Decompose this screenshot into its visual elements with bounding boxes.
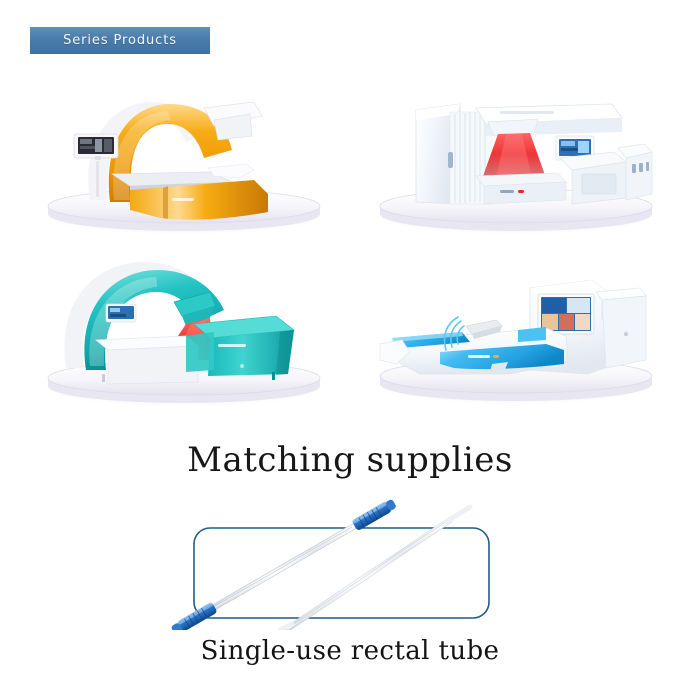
leg-left	[102, 374, 105, 382]
base-seam	[163, 186, 168, 219]
tube-1-connector-top	[352, 498, 398, 531]
product-image-white-gantry	[350, 78, 682, 248]
control-monitor[interactable]	[74, 134, 118, 158]
series-products-banner: Series Products	[30, 27, 210, 54]
monitor-mount	[95, 156, 101, 160]
rectal-tube-caption: Single-use rectal tube	[0, 636, 700, 666]
rectal-tube-svg	[150, 490, 550, 630]
brand-mark	[218, 344, 246, 347]
product-image-gold-c-arm	[18, 78, 350, 248]
banner-label: Series Products	[63, 33, 177, 48]
product-gallery	[18, 78, 682, 418]
screen-widget-b	[110, 314, 126, 317]
leg-right	[272, 372, 275, 380]
tube-2-lumen-line	[292, 523, 444, 626]
brand-mark	[172, 198, 194, 201]
operator-screen-widget-a	[561, 141, 575, 146]
display-thumb-d	[559, 314, 574, 330]
product-image-teal-c-arm	[18, 248, 350, 418]
rectal-tube-illustration	[150, 490, 550, 630]
brand-mark	[468, 355, 490, 358]
matching-supplies-heading: Matching supplies	[0, 440, 700, 480]
power-indicator	[624, 332, 628, 336]
tower-indicator	[448, 152, 453, 168]
console-blue-accent	[518, 327, 546, 342]
beam-emitter-head	[488, 119, 538, 136]
screen-widget-c	[95, 139, 102, 152]
product-image-blue-bed	[350, 248, 682, 418]
table-label	[500, 190, 514, 193]
screen-widget-d	[104, 139, 112, 152]
display-thumb-a	[542, 298, 566, 313]
cabinet-partition	[186, 332, 214, 372]
screen-widget-a	[80, 139, 92, 144]
front-table-body	[108, 346, 198, 384]
tube-2-tip	[446, 507, 470, 522]
product-card-teal-c-arm[interactable]	[18, 248, 350, 418]
product-card-blue-bed[interactable]	[350, 248, 682, 418]
product-card-gold-c-arm[interactable]	[18, 78, 350, 248]
display-thumb-e	[575, 314, 590, 330]
display-thumb-b	[567, 298, 590, 313]
rectal-tube-1	[170, 498, 397, 630]
treatment-table-body	[484, 182, 566, 204]
tube-1-lumen-line	[212, 527, 352, 608]
brand-accent	[493, 355, 499, 358]
screen-widget-a	[110, 308, 120, 312]
aux-tower-body	[626, 152, 652, 200]
cabinet-button[interactable]	[240, 364, 244, 368]
crossbeam-detail	[500, 111, 554, 114]
tube-frame-border	[194, 528, 489, 618]
rectal-tube-2	[280, 507, 470, 630]
screen-widget-b	[80, 146, 96, 149]
rear-shroud	[208, 164, 254, 178]
control-monitor[interactable]	[106, 304, 136, 322]
monitor-post	[96, 161, 99, 197]
monitor-screen	[108, 306, 134, 319]
console-panel	[582, 174, 616, 194]
operator-screen-widget-c	[578, 141, 589, 153]
table-status-light	[518, 190, 524, 193]
product-card-white-gantry[interactable]	[350, 78, 682, 248]
panel-tower-body	[602, 296, 646, 368]
